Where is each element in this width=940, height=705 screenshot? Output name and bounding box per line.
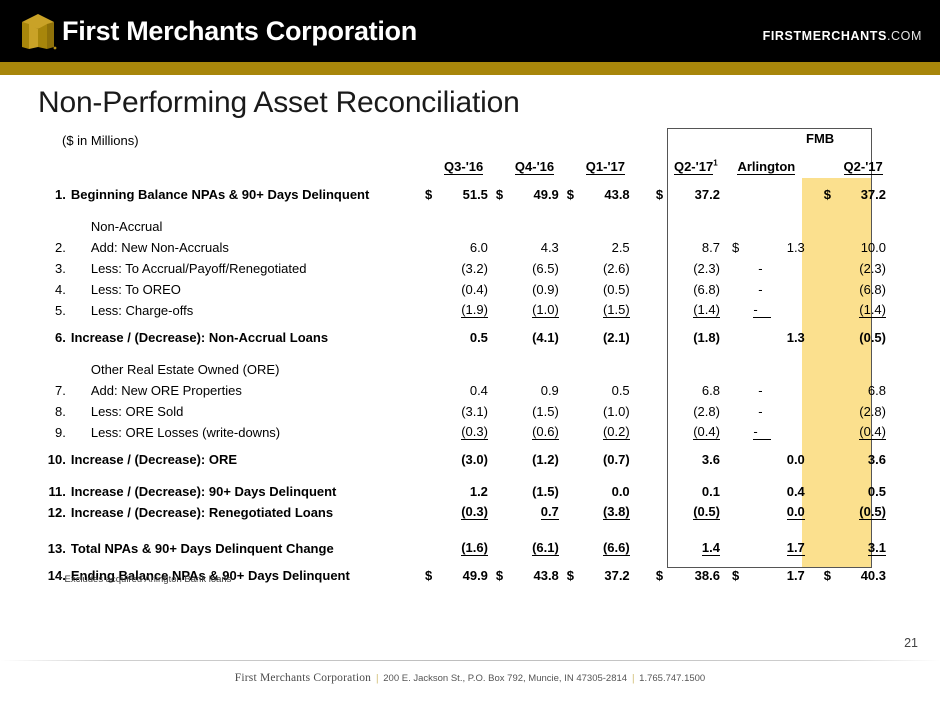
cell-q3-16: 1.2 bbox=[439, 478, 496, 499]
row-number: 12. bbox=[42, 499, 71, 520]
table-row: 12. Increase / (Decrease): Renegotiated … bbox=[42, 499, 898, 520]
row-number: 7. bbox=[42, 377, 71, 398]
cell-q3-16: (0.4) bbox=[439, 276, 496, 297]
footnote-marker: 1 bbox=[713, 159, 717, 168]
footnote: 1 Excludes acquired Arlington Bank loans bbox=[58, 574, 231, 585]
cell-arlington: 1.3 bbox=[728, 318, 815, 345]
url-tld: .COM bbox=[887, 29, 922, 43]
cell-q2-17: (2.8) bbox=[672, 398, 728, 419]
cell-q3-16: 0.4 bbox=[439, 377, 496, 398]
cell-arlington: - bbox=[728, 255, 815, 276]
table-row: 4. Less: To OREO (0.4) (0.9) (0.5) (6.8)… bbox=[42, 276, 898, 297]
brand-title: First Merchants Corporation bbox=[62, 16, 417, 47]
dollar-sign: $ bbox=[815, 175, 841, 202]
row-label: Add: New Non-Accruals bbox=[71, 234, 425, 255]
cell-fmb-q2-17: (2.8) bbox=[840, 398, 898, 419]
cell-q1-17: (1.5) bbox=[603, 303, 630, 318]
first-merchants-vault-logo bbox=[18, 11, 58, 51]
table-row: 9. Less: ORE Losses (write-downs) (0.3) … bbox=[42, 419, 898, 440]
cell-fmb-q2-17: 3.6 bbox=[840, 440, 898, 467]
dollar-sign: $ bbox=[567, 556, 581, 583]
row-number: 11. bbox=[42, 478, 71, 499]
dollar-sign: $ bbox=[425, 556, 439, 583]
row-number: 5. bbox=[42, 297, 71, 318]
row-label: Increase / (Decrease): Renegotiated Loan… bbox=[71, 499, 425, 520]
cell-fmb-q2-17: (1.4) bbox=[859, 303, 886, 318]
cell-q3-16: 6.0 bbox=[439, 234, 496, 255]
cell-q2-17: (0.4) bbox=[693, 425, 720, 440]
cell-q2-17: 3.6 bbox=[672, 440, 728, 467]
cell-q1-17: 2.5 bbox=[581, 234, 638, 255]
table-row: 3. Less: To Accrual/Payoff/Renegotiated … bbox=[42, 255, 898, 276]
page-footer: First Merchants Corporation|200 E. Jacks… bbox=[0, 672, 940, 684]
cell-fmb-q2-17: (0.4) bbox=[859, 425, 886, 440]
cell-q1-17: 43.8 bbox=[581, 175, 638, 202]
cell-q3-16: (3.2) bbox=[439, 255, 496, 276]
row-number: 6. bbox=[42, 318, 71, 345]
subheader-label: Other Real Estate Owned (ORE) bbox=[71, 356, 425, 377]
col-header-q3-16: Q3-'16 bbox=[444, 160, 483, 175]
row-number: 3. bbox=[42, 255, 71, 276]
footnote-text: Excludes acquired Arlington Bank loans bbox=[65, 574, 232, 585]
cell-q2-17: 37.2 bbox=[672, 175, 728, 202]
url-main: FIRSTMERCHANTS bbox=[763, 29, 887, 43]
table-row: 6. Increase / (Decrease): Non-Accrual Lo… bbox=[42, 318, 898, 345]
cell-q4-16: (1.5) bbox=[510, 478, 567, 499]
cell-q3-16: (0.3) bbox=[461, 425, 488, 440]
cell-arlington: - bbox=[753, 303, 771, 318]
website-url: FIRSTMERCHANTS.COM bbox=[763, 29, 922, 43]
cell-arlington: $1.3 bbox=[728, 234, 815, 255]
cell-fmb-q2-17: (0.5) bbox=[840, 318, 898, 345]
dollar-sign: $ bbox=[728, 568, 739, 583]
arlington-value: 1.7 bbox=[787, 568, 805, 583]
row-label: Add: New ORE Properties bbox=[71, 377, 425, 398]
cell-q3-16: (3.1) bbox=[439, 398, 496, 419]
cell-q3-16: 51.5 bbox=[439, 175, 496, 202]
cell-q4-16: (6.5) bbox=[510, 255, 567, 276]
row-label: Beginning Balance NPAs & 90+ Days Delinq… bbox=[71, 175, 425, 202]
row-number: 2. bbox=[42, 234, 71, 255]
cell-q3-16: (1.9) bbox=[461, 303, 488, 318]
dollar-sign: $ bbox=[815, 556, 841, 583]
cell-q4-16: (1.5) bbox=[510, 398, 567, 419]
dollar-sign: $ bbox=[648, 175, 672, 202]
cell-q1-17: (0.2) bbox=[603, 425, 630, 440]
cell-fmb-q2-17: (0.5) bbox=[859, 505, 886, 520]
row-label: Increase / (Decrease): Non-Accrual Loans bbox=[71, 318, 425, 345]
cell-q4-16: 43.8 bbox=[510, 556, 567, 583]
cell-q1-17: (3.8) bbox=[603, 505, 630, 520]
table-row: 11. Increase / (Decrease): 90+ Days Deli… bbox=[42, 478, 898, 499]
cell-fmb-q2-17: 37.2 bbox=[840, 175, 898, 202]
cell-q4-16: (1.2) bbox=[510, 440, 567, 467]
cell-q4-16: (0.6) bbox=[532, 425, 559, 440]
page-header: First Merchants Corporation FIRSTMERCHAN… bbox=[0, 0, 940, 62]
cell-fmb-q2-17: 0.5 bbox=[840, 478, 898, 499]
cell-q4-16: 4.3 bbox=[510, 234, 567, 255]
cell-q2-17: (2.3) bbox=[672, 255, 728, 276]
cell-q2-17: (1.8) bbox=[672, 318, 728, 345]
cell-q3-16: (1.6) bbox=[461, 541, 488, 556]
row-number: 8. bbox=[42, 398, 71, 419]
npa-reconciliation-table: Q3-'16 Q4-'16 Q1-'17 Q2-'171 Arlington Q… bbox=[42, 128, 898, 583]
cell-q1-17: (2.6) bbox=[581, 255, 638, 276]
section-subheader-ore: Other Real Estate Owned (ORE) bbox=[42, 356, 898, 377]
footer-separator: | bbox=[371, 673, 383, 684]
footer-separator: | bbox=[627, 673, 639, 684]
table-row: 2. Add: New Non-Accruals 6.0 4.3 2.5 8.7… bbox=[42, 234, 898, 255]
table-row: 8. Less: ORE Sold (3.1) (1.5) (1.0) (2.8… bbox=[42, 398, 898, 419]
cell-q2-17: (1.4) bbox=[693, 303, 720, 318]
table-column-headers: Q3-'16 Q4-'16 Q1-'17 Q2-'171 Arlington Q… bbox=[42, 148, 898, 175]
section-subheader-non-accrual: Non-Accrual bbox=[42, 213, 898, 234]
dollar-sign: $ bbox=[496, 556, 510, 583]
col-header-q2-17: Q2-'17 bbox=[674, 160, 713, 175]
cell-arlington: 0.0 bbox=[787, 505, 805, 520]
cell-fmb-q2-17: (2.3) bbox=[840, 255, 898, 276]
row-label: Total NPAs & 90+ Days Delinquent Change bbox=[71, 529, 425, 556]
cell-q4-16: (4.1) bbox=[510, 318, 567, 345]
cell-q2-17: (0.5) bbox=[693, 505, 720, 520]
cell-arlington bbox=[728, 175, 815, 202]
page-number: 21 bbox=[904, 636, 918, 650]
table-row: 7. Add: New ORE Properties 0.4 0.9 0.5 6… bbox=[42, 377, 898, 398]
cell-arlington: - bbox=[728, 276, 815, 297]
row-number: 4. bbox=[42, 276, 71, 297]
cell-arlington: $1.7 bbox=[728, 556, 815, 583]
cell-q4-16: 49.9 bbox=[510, 175, 567, 202]
page-title: Non-Performing Asset Reconciliation bbox=[38, 86, 520, 120]
cell-q4-16: (6.1) bbox=[532, 541, 559, 556]
row-label: Less: Charge-offs bbox=[71, 297, 425, 318]
table-row: 13. Total NPAs & 90+ Days Delinquent Cha… bbox=[42, 529, 898, 556]
row-label: Less: ORE Losses (write-downs) bbox=[71, 419, 425, 440]
cell-q1-17: 37.2 bbox=[581, 556, 638, 583]
cell-q1-17: 0.0 bbox=[581, 478, 638, 499]
dollar-sign: $ bbox=[648, 556, 672, 583]
cell-arlington: - bbox=[753, 425, 771, 440]
dollar-sign: $ bbox=[728, 240, 739, 255]
cell-fmb-q2-17: 3.1 bbox=[868, 541, 886, 556]
cell-q1-17: (6.6) bbox=[603, 541, 630, 556]
dollar-sign: $ bbox=[567, 175, 581, 202]
footnote-marker: 1 bbox=[58, 573, 62, 580]
cell-q3-16: 0.5 bbox=[439, 318, 496, 345]
row-label: Less: To Accrual/Payoff/Renegotiated bbox=[71, 255, 425, 276]
dollar-sign: $ bbox=[496, 175, 510, 202]
cell-fmb-q2-17: (6.8) bbox=[840, 276, 898, 297]
cell-q1-17: (1.0) bbox=[581, 398, 638, 419]
footer-company: First Merchants Corporation bbox=[235, 672, 371, 684]
table-header-spacer bbox=[42, 128, 898, 148]
row-number: 1. bbox=[42, 175, 71, 202]
col-header-arlington: Arlington bbox=[737, 160, 795, 175]
row-number: 10. bbox=[42, 440, 71, 467]
cell-arlington: - bbox=[728, 377, 815, 398]
table-row: 5. Less: Charge-offs (1.9) (1.0) (1.5) (… bbox=[42, 297, 898, 318]
cell-q2-17: 8.7 bbox=[672, 234, 728, 255]
row-label: Increase / (Decrease): ORE bbox=[71, 440, 425, 467]
row-number: 9. bbox=[42, 419, 71, 440]
table-row: 1. Beginning Balance NPAs & 90+ Days Del… bbox=[42, 175, 898, 202]
row-label: Less: ORE Sold bbox=[71, 398, 425, 419]
cell-q1-17: (2.1) bbox=[581, 318, 638, 345]
cell-arlington: 0.0 bbox=[728, 440, 815, 467]
cell-q3-16: (3.0) bbox=[439, 440, 496, 467]
cell-q1-17: (0.5) bbox=[581, 276, 638, 297]
table-row: 10. Increase / (Decrease): ORE (3.0) (1.… bbox=[42, 440, 898, 467]
arlington-value: 1.3 bbox=[787, 240, 805, 255]
cell-arlington: 0.4 bbox=[728, 478, 815, 499]
dollar-sign: $ bbox=[425, 175, 439, 202]
cell-q2-17: (6.8) bbox=[672, 276, 728, 297]
cell-q4-16: 0.9 bbox=[510, 377, 567, 398]
cell-q4-16: (0.9) bbox=[510, 276, 567, 297]
row-label: Increase / (Decrease): 90+ Days Delinque… bbox=[71, 478, 425, 499]
row-label: Less: To OREO bbox=[71, 276, 425, 297]
cell-q3-16: (0.3) bbox=[461, 505, 488, 520]
footer-address: 200 E. Jackson St., P.O. Box 792, Muncie… bbox=[383, 673, 627, 684]
col-header-fmb-q2-17: Q2-'17 bbox=[844, 160, 883, 175]
cell-fmb-q2-17: 40.3 bbox=[840, 556, 898, 583]
cell-q1-17: 0.5 bbox=[581, 377, 638, 398]
row-number: 13. bbox=[42, 529, 71, 556]
cell-arlington: 1.7 bbox=[787, 541, 805, 556]
footer-divider bbox=[0, 660, 940, 661]
cell-q2-17: 1.4 bbox=[702, 541, 720, 556]
cell-q2-17: 38.6 bbox=[672, 556, 728, 583]
col-header-q4-16: Q4-'16 bbox=[515, 160, 554, 175]
cell-q1-17: (0.7) bbox=[581, 440, 638, 467]
cell-fmb-q2-17: 10.0 bbox=[840, 234, 898, 255]
cell-q4-16: (1.0) bbox=[532, 303, 559, 318]
subheader-label: Non-Accrual bbox=[71, 213, 425, 234]
cell-q4-16: 0.7 bbox=[541, 505, 559, 520]
cell-arlington: - bbox=[728, 398, 815, 419]
cell-q2-17: 0.1 bbox=[672, 478, 728, 499]
cell-fmb-q2-17: 6.8 bbox=[840, 377, 898, 398]
cell-q3-16: 49.9 bbox=[439, 556, 496, 583]
gold-accent-bar bbox=[0, 62, 940, 75]
col-header-q1-17: Q1-'17 bbox=[586, 160, 625, 175]
cell-q2-17: 6.8 bbox=[672, 377, 728, 398]
footer-phone: 1.765.747.1500 bbox=[639, 673, 705, 684]
